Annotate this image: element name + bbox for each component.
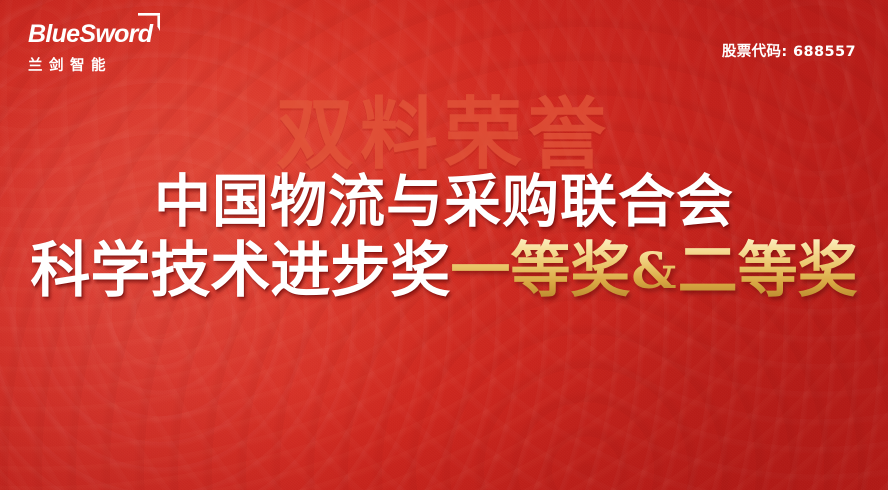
angular-bracket-mark-icon [136,11,162,33]
headline-ampersand: & [630,241,677,300]
stock-code-label: 股票代码: 688557 [722,40,856,61]
brand-logo[interactable]: BlueSword 兰剑智能 [28,22,178,84]
watermark-text: 双料荣誉 [0,96,888,174]
headline-second-prize: 二等奖 [678,236,858,306]
headline-block: 中国物流与采购联合会 科学技术进步奖一等奖&二等奖 [0,172,888,304]
headline-line-1: 中国物流与采购联合会 [0,172,888,232]
brand-subtitle: 兰剑智能 [28,54,178,75]
headline-award-name: 科学技术进步奖 [30,236,450,306]
headline-first-prize: 一等奖 [450,236,630,306]
headline-line-2: 科学技术进步奖一等奖&二等奖 [0,240,888,304]
award-banner: BlueSword 兰剑智能 股票代码: 688557 双料荣誉 中国物流与采购… [0,0,888,490]
